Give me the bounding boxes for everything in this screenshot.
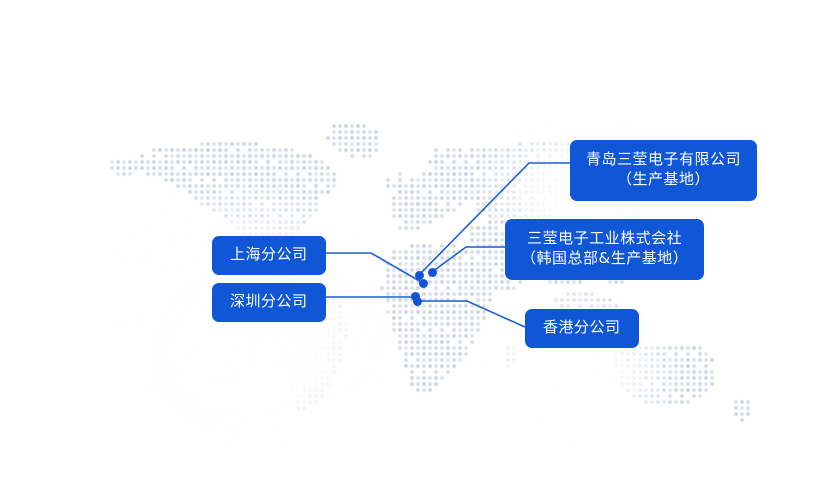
location-label-qingdao-line2: （生产基地） <box>586 170 741 190</box>
location-label-hongkong[interactable]: 香港分公司 <box>525 309 639 348</box>
world-map-locations-graphic: 青岛三莹电子有限公司 （生产基地） 三莹电子工业株式会社 （韩国总部&生产基地）… <box>0 0 824 480</box>
location-label-hongkong-line1: 香港分公司 <box>543 318 621 338</box>
map-marker-korea[interactable] <box>428 268 437 277</box>
location-label-korea-line1: 三莹电子工业株式会社 <box>521 229 688 249</box>
map-marker-shanghai[interactable] <box>419 279 428 288</box>
location-label-korea[interactable]: 三莹电子工业株式会社 （韩国总部&生产基地） <box>505 219 704 280</box>
map-marker-hongkong[interactable] <box>413 297 422 306</box>
location-label-shenzhen[interactable]: 深圳分公司 <box>212 283 326 322</box>
location-label-shanghai[interactable]: 上海分公司 <box>212 236 326 275</box>
location-label-shenzhen-line1: 深圳分公司 <box>230 292 308 312</box>
location-label-korea-line2: （韩国总部&生产基地） <box>521 249 688 269</box>
location-label-qingdao[interactable]: 青岛三莹电子有限公司 （生产基地） <box>570 140 757 201</box>
location-label-qingdao-line1: 青岛三莹电子有限公司 <box>586 150 741 170</box>
location-label-shanghai-line1: 上海分公司 <box>230 245 308 265</box>
